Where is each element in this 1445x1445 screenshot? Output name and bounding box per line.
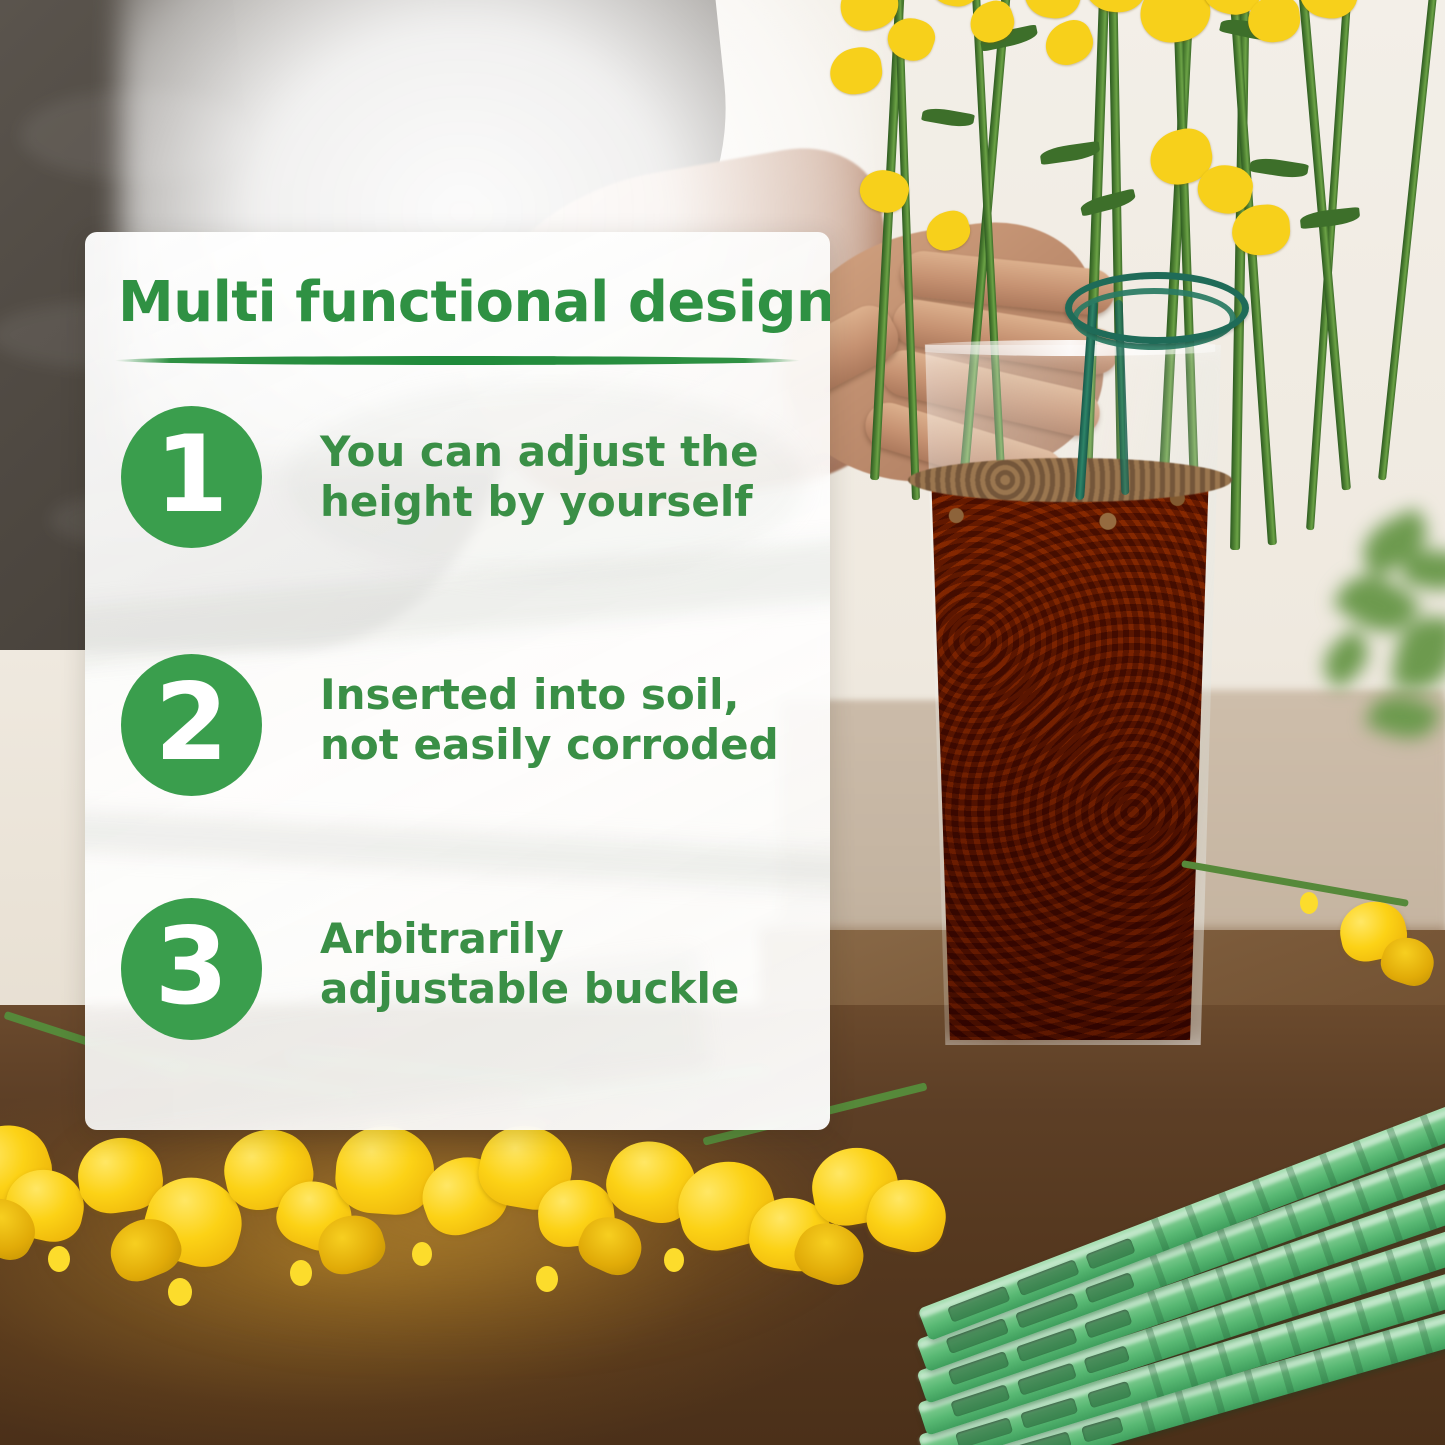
product-infographic: Multi functional design 1 You can adjust… bbox=[0, 0, 1445, 1445]
plastic-tie-bundle bbox=[880, 1010, 1445, 1445]
info-panel: Multi functional design 1 You can adjust… bbox=[85, 232, 830, 1130]
soil-surface bbox=[908, 458, 1232, 502]
feature-text-1: You can adjust the height by yourself bbox=[320, 427, 759, 528]
feature-text-3: Arbitrarily adjustable buckle bbox=[320, 914, 739, 1015]
yellow-flowers-right bbox=[1180, 840, 1445, 1070]
feature-text-2: Inserted into soil, not easily corroded bbox=[320, 670, 779, 771]
feature-number-badge-1: 1 bbox=[121, 406, 262, 548]
feature-number-badge-2: 2 bbox=[121, 654, 262, 796]
feature-number-3: 3 bbox=[155, 914, 229, 1020]
feature-number-badge-3: 3 bbox=[121, 898, 262, 1040]
title-divider bbox=[115, 356, 800, 365]
page-title: Multi functional design bbox=[118, 270, 830, 335]
plant-support-ring bbox=[1065, 272, 1249, 344]
feature-number-1: 1 bbox=[155, 422, 229, 528]
feature-number-2: 2 bbox=[155, 670, 229, 776]
